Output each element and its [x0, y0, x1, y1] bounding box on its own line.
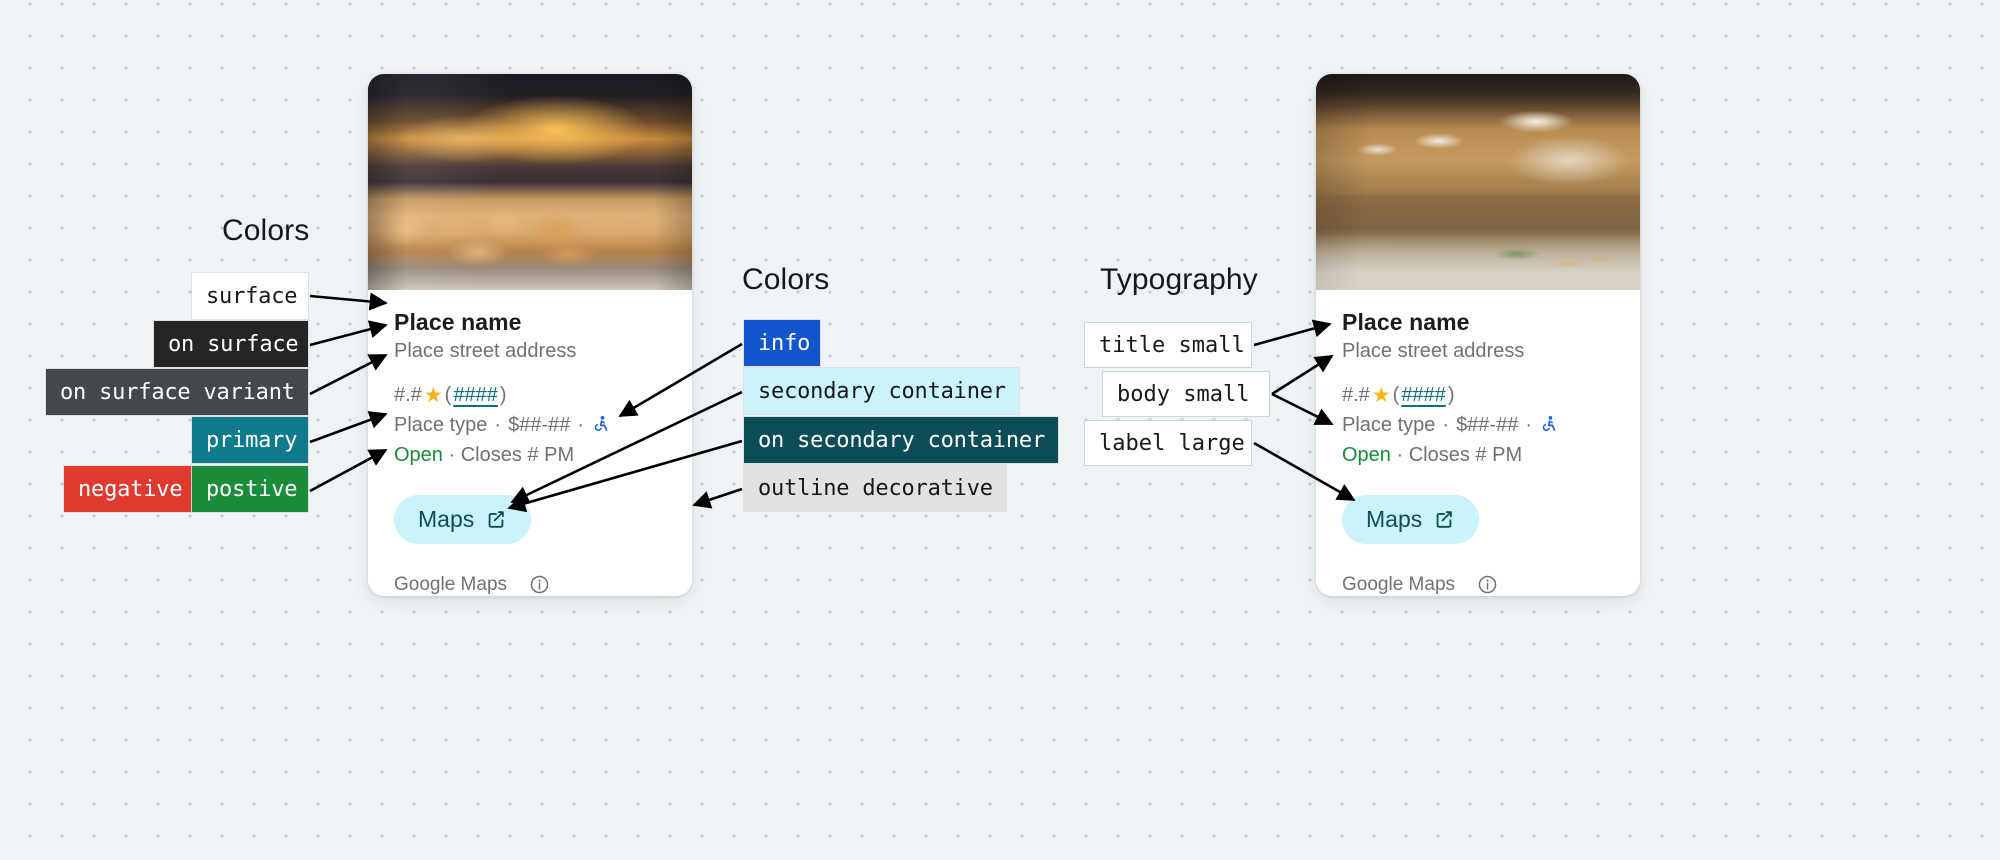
price-range: $##-##: [1456, 411, 1518, 439]
rating-count-link[interactable]: ####: [1401, 382, 1446, 409]
maps-button[interactable]: Maps: [1342, 495, 1479, 544]
swatch-on-surface-variant[interactable]: on surface variant: [46, 369, 308, 415]
star-icon: ★: [1372, 385, 1391, 406]
info-circle-icon[interactable]: [529, 574, 550, 595]
maps-button[interactable]: Maps: [394, 495, 531, 544]
hours-row: Open · Closes # PM: [394, 441, 666, 469]
dot-separator: ·: [577, 411, 584, 439]
card-photo: [1316, 74, 1640, 290]
place-address: Place street address: [1342, 338, 1614, 365]
wheelchair-icon: [591, 415, 610, 434]
swatch-label: surface: [206, 284, 297, 309]
typo-token-label: body small: [1117, 382, 1249, 407]
card-footer: Google Maps: [394, 574, 666, 596]
open-status: Open: [394, 444, 443, 466]
maps-button-label: Maps: [1366, 506, 1422, 533]
place-type: Place type: [394, 411, 487, 439]
place-type: Place type: [1342, 411, 1435, 439]
external-link-icon: [1433, 508, 1455, 530]
rating-count-link[interactable]: ####: [453, 382, 498, 409]
place-address: Place street address: [394, 338, 666, 365]
footer-label: Google Maps: [1342, 574, 1455, 596]
typo-token-title-small[interactable]: title small: [1084, 322, 1252, 368]
section-title-typography: Typography: [1100, 263, 1258, 297]
external-link-icon: [485, 508, 507, 530]
swatch-secondary-container[interactable]: secondary container: [744, 368, 1019, 414]
rating-count-paren-close: ): [1448, 382, 1455, 409]
bakery-pastries-photo: [368, 74, 692, 290]
cafe-interior-photo: [1316, 74, 1640, 290]
swatch-on-surface[interactable]: on surface: [154, 321, 308, 367]
place-name: Place name: [1342, 308, 1614, 337]
arrow-outline-decorative: [694, 489, 742, 505]
swatch-label: outline decorative: [758, 476, 993, 501]
card-body: Place name Place street address #.# ★ (#…: [368, 290, 692, 596]
swatch-label: secondary container: [758, 379, 1006, 404]
card-photo: [368, 74, 692, 290]
place-name: Place name: [394, 308, 666, 337]
maps-button-label: Maps: [418, 506, 474, 533]
swatch-label: postive: [206, 477, 297, 502]
place-card-right[interactable]: Place name Place street address #.# ★ (#…: [1316, 74, 1640, 596]
rating-row: #.# ★ (####): [1342, 382, 1614, 409]
swatch-label: on secondary container: [758, 428, 1045, 453]
rating-count-paren-open: (: [445, 382, 452, 409]
swatch-negative[interactable]: negative: [64, 466, 191, 512]
meta-row: Place type · $##-## ·: [394, 411, 666, 439]
swatch-surface[interactable]: surface: [192, 273, 308, 319]
section-title-colors-mid: Colors: [742, 263, 829, 297]
swatch-info[interactable]: info: [744, 320, 820, 366]
place-card-left[interactable]: Place name Place street address #.# ★ (#…: [368, 74, 692, 596]
card-footer: Google Maps: [1342, 574, 1614, 596]
star-icon: ★: [424, 385, 443, 406]
swatch-label: primary: [206, 428, 297, 453]
canvas: Colors Colors Typography surface on surf…: [0, 0, 2000, 860]
swatch-outline-decorative[interactable]: outline decorative: [744, 465, 1006, 511]
rating-count-paren-close: ): [500, 382, 507, 409]
swatch-label: info: [758, 331, 810, 356]
swatch-label: on surface: [168, 332, 298, 357]
wheelchair-icon: [1539, 415, 1558, 434]
swatch-postive[interactable]: postive: [192, 466, 308, 512]
typo-token-label-large[interactable]: label large: [1084, 420, 1252, 466]
typo-token-label: label large: [1099, 431, 1245, 456]
closing-time: Closes # PM: [461, 444, 574, 466]
section-title-colors-left: Colors: [222, 214, 309, 248]
info-circle-icon[interactable]: [1477, 574, 1498, 595]
dot-separator: ·: [1442, 411, 1449, 439]
swatch-label: on surface variant: [60, 380, 295, 405]
dot-separator: ·: [449, 444, 456, 466]
dot-separator: ·: [1525, 411, 1532, 439]
typo-token-label: title small: [1099, 333, 1245, 358]
swatch-primary[interactable]: primary: [192, 417, 308, 463]
hours-row: Open · Closes # PM: [1342, 441, 1614, 469]
rating-row: #.# ★ (####): [394, 382, 666, 409]
typo-token-body-small[interactable]: body small: [1102, 371, 1270, 417]
rating-count-paren-open: (: [1393, 382, 1400, 409]
dot-separator: ·: [1397, 444, 1404, 466]
open-status: Open: [1342, 444, 1391, 466]
closing-time: Closes # PM: [1409, 444, 1522, 466]
rating-value: #.#: [1342, 382, 1370, 409]
meta-row: Place type · $##-## ·: [1342, 411, 1614, 439]
rating-value: #.#: [394, 382, 422, 409]
swatch-on-secondary-container[interactable]: on secondary container: [744, 417, 1058, 463]
price-range: $##-##: [508, 411, 570, 439]
card-body: Place name Place street address #.# ★ (#…: [1316, 290, 1640, 596]
swatch-label: negative: [78, 477, 182, 502]
footer-label: Google Maps: [394, 574, 507, 596]
dot-separator: ·: [494, 411, 501, 439]
